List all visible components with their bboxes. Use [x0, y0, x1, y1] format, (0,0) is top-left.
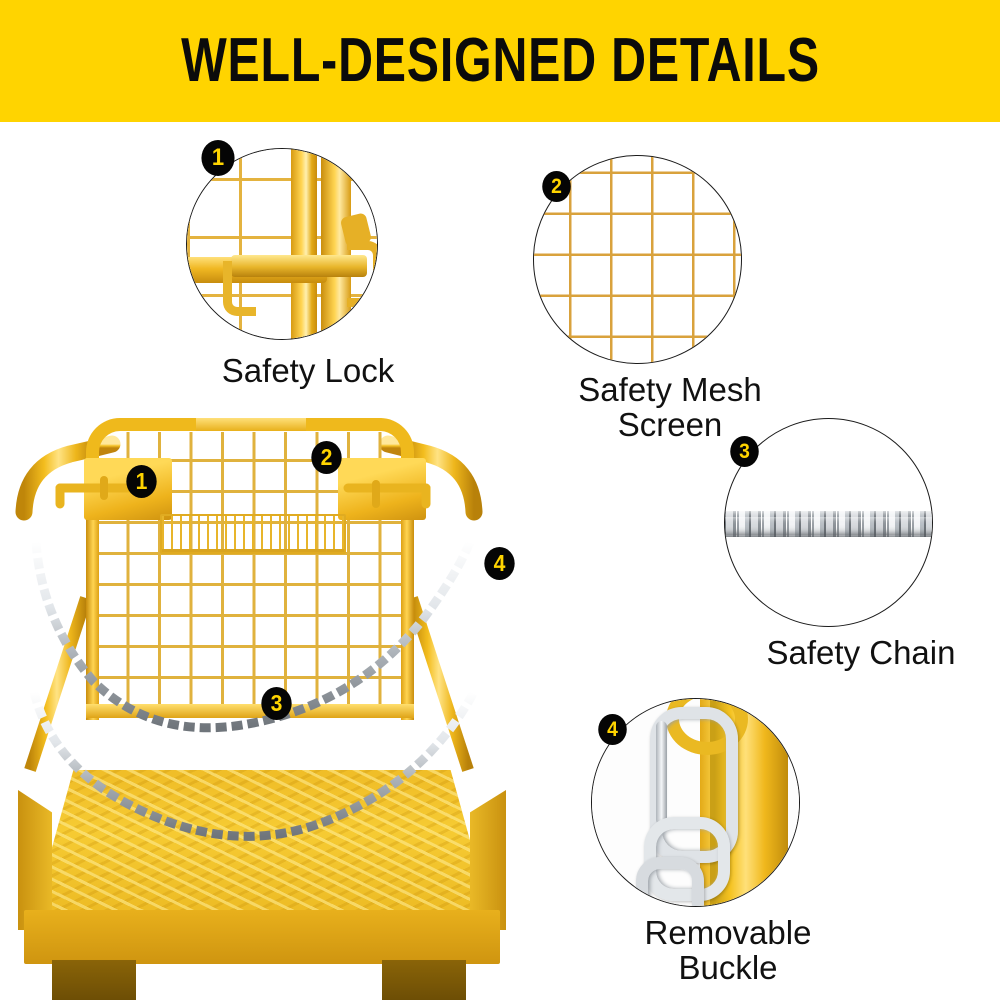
product-marker-1[interactable]: 1 — [126, 465, 156, 498]
gate-post-left — [291, 148, 317, 340]
safety-chain — [8, 392, 528, 984]
gate-latch-icon — [187, 149, 377, 339]
product-marker-2[interactable]: 2 — [311, 441, 341, 474]
latch-hook-right — [347, 241, 378, 307]
detail-callout-safety-lock: 1 Safety Lock — [178, 148, 438, 418]
latch-hook-left — [223, 261, 256, 316]
detail-badge-3[interactable]: 3 — [730, 436, 759, 467]
detail-label-removable-buckle: Removable Buckle — [583, 916, 873, 986]
detail-circle-1 — [186, 148, 378, 340]
detail-callout-safety-mesh-screen: 2 Safety Mesh Screen — [525, 155, 815, 455]
page-title: WELL-DESIGNED DETAILS — [181, 30, 820, 92]
chain-link-lower — [636, 857, 704, 907]
chain-link-icon-shadow — [724, 517, 933, 535]
detail-badge-4[interactable]: 4 — [598, 714, 627, 745]
detail-label-safety-lock: Safety Lock — [178, 354, 438, 389]
header-banner: WELL-DESIGNED DETAILS — [0, 0, 1000, 122]
infographic-page: WELL-DESIGNED DETAILS — [0, 0, 1000, 1000]
detail-badge-2[interactable]: 2 — [542, 171, 571, 202]
product-marker-3[interactable]: 3 — [261, 687, 291, 720]
product-marker-4[interactable]: 4 — [484, 547, 514, 580]
detail-callout-safety-chain: 3 Safety Chain — [716, 418, 1000, 688]
carabiner-gate — [656, 721, 667, 825]
detail-callout-removable-buckle: 4 Removable Buckle — [583, 698, 873, 998]
detail-badge-1[interactable]: 1 — [201, 140, 234, 176]
product-image-forklift-safety-cage: 1 2 3 4 — [8, 392, 528, 984]
detail-label-safety-chain: Safety Chain — [716, 636, 1000, 671]
